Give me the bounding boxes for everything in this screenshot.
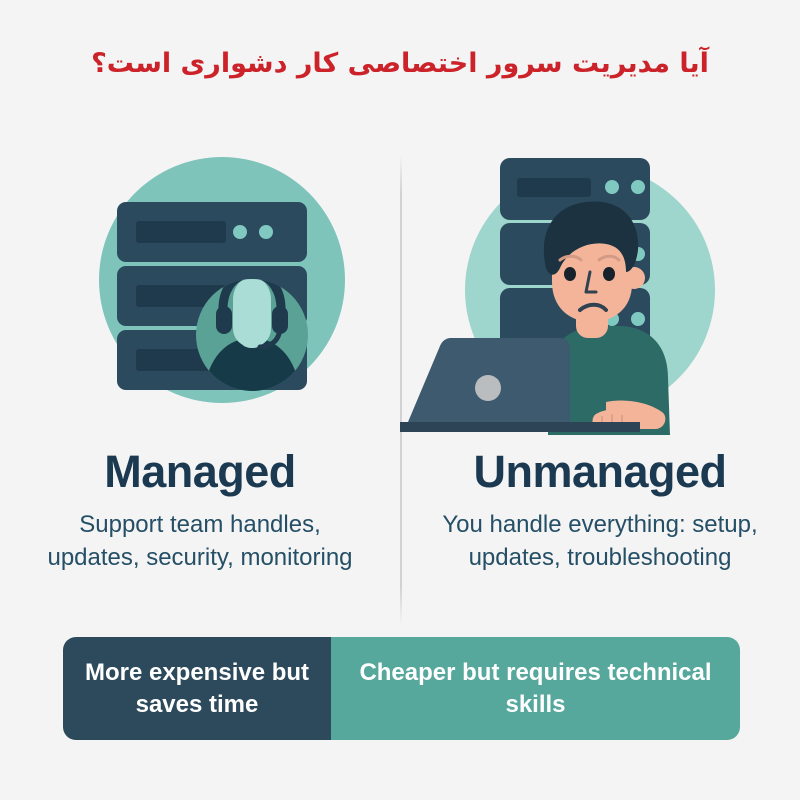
column-unmanaged: Unmanaged You handle everything: setup, …: [400, 150, 800, 630]
server-rack-with-support-agent-icon: [0, 150, 400, 435]
managed-heading: Managed: [0, 446, 400, 498]
managed-illustration: [0, 150, 400, 435]
comparison-bar-managed: More expensive but saves time: [63, 637, 331, 740]
worried-man-at-laptop-with-server-rack-icon: [400, 150, 800, 435]
unmanaged-description: You handle everything: setup, updates, t…: [430, 508, 770, 574]
column-managed: Managed Support team handles, updates, s…: [0, 150, 400, 630]
comparison-bar-unmanaged: Cheaper but requires technical skills: [331, 637, 740, 740]
page-title: آیا مدیریت سرور اختصاصی کار دشواری است؟: [0, 48, 800, 79]
unmanaged-heading: Unmanaged: [400, 446, 800, 498]
unmanaged-illustration: [400, 150, 800, 435]
managed-description: Support team handles, updates, security,…: [30, 508, 370, 574]
comparison-bar: More expensive but saves time Cheaper bu…: [63, 637, 740, 740]
infographic-canvas: آیا مدیریت سرور اختصاصی کار دشواری است؟: [0, 0, 800, 800]
